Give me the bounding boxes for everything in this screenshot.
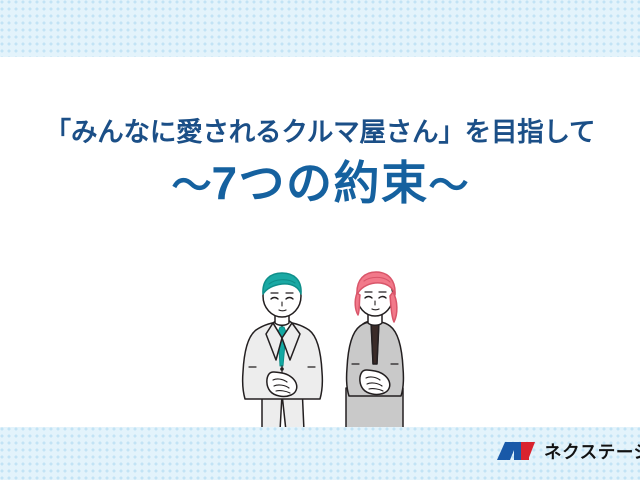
promo-banner: 「みんなに愛されるクルマ屋さん」を目指して 〜7つの約束〜 — [0, 0, 640, 480]
top-dotted-band — [0, 0, 640, 57]
brand-logo: ネクステージ — [496, 436, 640, 466]
headline-secondary: 〜7つの約束〜 — [0, 159, 640, 209]
headline-primary: 「みんなに愛されるクルマ屋さん」を目指して — [0, 118, 640, 148]
nextage-n-mark — [496, 439, 536, 464]
wave-dash-right: 〜 — [429, 164, 469, 208]
headline-secondary-text: 7つの約束 — [211, 157, 428, 209]
female-staff-bowing — [346, 272, 403, 431]
brand-name: ネクステージ — [544, 439, 640, 464]
wave-dash-left: 〜 — [171, 164, 211, 208]
headline-block: 「みんなに愛されるクルマ屋さん」を目指して 〜7つの約束〜 — [0, 118, 640, 208]
male-staff-bowing — [243, 273, 323, 431]
two-bowing-staff-illustration — [236, 268, 426, 433]
